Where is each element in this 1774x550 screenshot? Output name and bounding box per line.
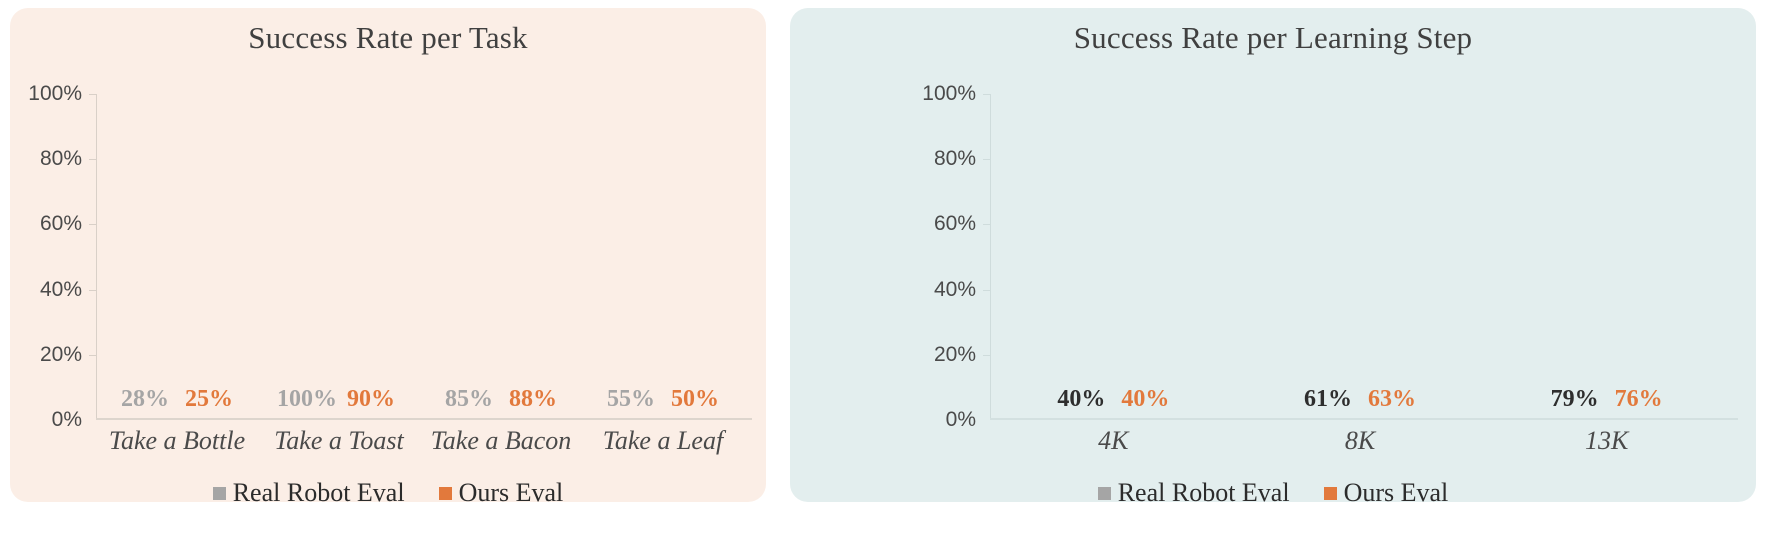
legend-swatch-icon <box>439 487 452 500</box>
y-tick-label-right-100: 100% <box>922 82 976 106</box>
bar-group-4k: 40% 40% <box>990 94 1237 420</box>
page-title: Success Rate per Learning Step <box>790 20 1756 56</box>
bar-value-label: 63% <box>1368 386 1416 413</box>
bar-groups-left: 28% 25% 100% 90% <box>96 94 744 420</box>
legend-label: Real Robot Eval <box>1118 478 1290 508</box>
bar-group-take-a-bacon: 85% 88% <box>420 94 582 420</box>
bar-value-label: 40% <box>1121 386 1169 413</box>
legend-left: Real Robot Eval Ours Eval <box>10 478 766 508</box>
bar-value-label: 55% <box>607 386 655 413</box>
bar-value-label: 61% <box>1304 386 1352 413</box>
bar-group-take-a-toast: 100% 90% <box>258 94 420 420</box>
legend-swatch-icon <box>1324 487 1337 500</box>
chart-card-success-rate-per-learning-step: Success Rate per Learning Step 100% 80% … <box>790 8 1756 502</box>
x-tick-label-take-a-bacon: Take a Bacon <box>420 426 582 456</box>
bar-value-label: 79% <box>1551 386 1599 413</box>
bar-group-take-a-leaf: 55% 50% <box>582 94 744 420</box>
figure-root: Success Rate per Task 100% 80% 60% 40% 2… <box>0 0 1774 550</box>
x-tick-label-take-a-leaf: Take a Leaf <box>582 426 744 456</box>
legend-swatch-icon <box>213 487 226 500</box>
bar-value-label: 25% <box>185 386 233 413</box>
y-tick-label-right-60: 60% <box>934 212 976 236</box>
legend-swatch-icon <box>1098 487 1111 500</box>
page-title: Success Rate per Task <box>10 20 766 56</box>
x-tick-label-8k: 8K <box>1237 426 1484 456</box>
bar-group-8k: 61% 63% <box>1237 94 1484 420</box>
chart-card-success-rate-per-task: Success Rate per Task 100% 80% 60% 40% 2… <box>10 8 766 502</box>
bar-group-take-a-bottle: 28% 25% <box>96 94 258 420</box>
plot-area-left: 100% 80% 60% 40% 20% 0% 28% 25% <box>96 94 744 420</box>
y-tick-label-left-40: 40% <box>40 278 82 302</box>
x-tick-label-take-a-toast: Take a Toast <box>258 426 420 456</box>
y-tick-label-left-0: 0% <box>52 408 82 432</box>
legend-item-real-robot-eval[interactable]: Real Robot Eval <box>1098 478 1290 508</box>
x-tick-label-4k: 4K <box>990 426 1237 456</box>
legend-item-ours-eval[interactable]: Ours Eval <box>439 478 564 508</box>
y-tick-label-right-20: 20% <box>934 343 976 367</box>
y-tick-label-left-60: 60% <box>40 212 82 236</box>
legend-label: Real Robot Eval <box>233 478 405 508</box>
bar-value-label: 28% <box>121 386 169 413</box>
x-tick-label-take-a-bottle: Take a Bottle <box>96 426 258 456</box>
y-tick-label-right-80: 80% <box>934 147 976 171</box>
x-axis-labels-left: Take a Bottle Take a Toast Take a Bacon … <box>96 426 744 456</box>
x-tick-label-13k: 13K <box>1483 426 1730 456</box>
y-tick-label-right-0: 0% <box>946 408 976 432</box>
y-tick-label-left-100: 100% <box>28 82 82 106</box>
bar-value-label: 100% <box>277 386 337 413</box>
bar-value-label: 40% <box>1057 386 1105 413</box>
bar-value-label: 88% <box>509 386 557 413</box>
legend-label: Ours Eval <box>1344 478 1449 508</box>
x-axis-labels-right: 4K 8K 13K <box>990 426 1730 456</box>
legend-item-ours-eval[interactable]: Ours Eval <box>1324 478 1449 508</box>
bar-value-label: 90% <box>347 386 395 413</box>
legend-label: Ours Eval <box>459 478 564 508</box>
y-tick-label-left-20: 20% <box>40 343 82 367</box>
bar-value-label: 76% <box>1615 386 1663 413</box>
bar-groups-right: 40% 40% 61% 63% <box>990 94 1730 420</box>
y-tick-label-right-40: 40% <box>934 278 976 302</box>
legend-item-real-robot-eval[interactable]: Real Robot Eval <box>213 478 405 508</box>
bar-value-label: 50% <box>671 386 719 413</box>
bar-value-label: 85% <box>445 386 493 413</box>
legend-right: Real Robot Eval Ours Eval <box>790 478 1756 508</box>
plot-area-right: 100% 80% 60% 40% 20% 0% 40% 40% <box>990 94 1730 420</box>
bar-group-13k: 79% 76% <box>1483 94 1730 420</box>
y-tick-label-left-80: 80% <box>40 147 82 171</box>
